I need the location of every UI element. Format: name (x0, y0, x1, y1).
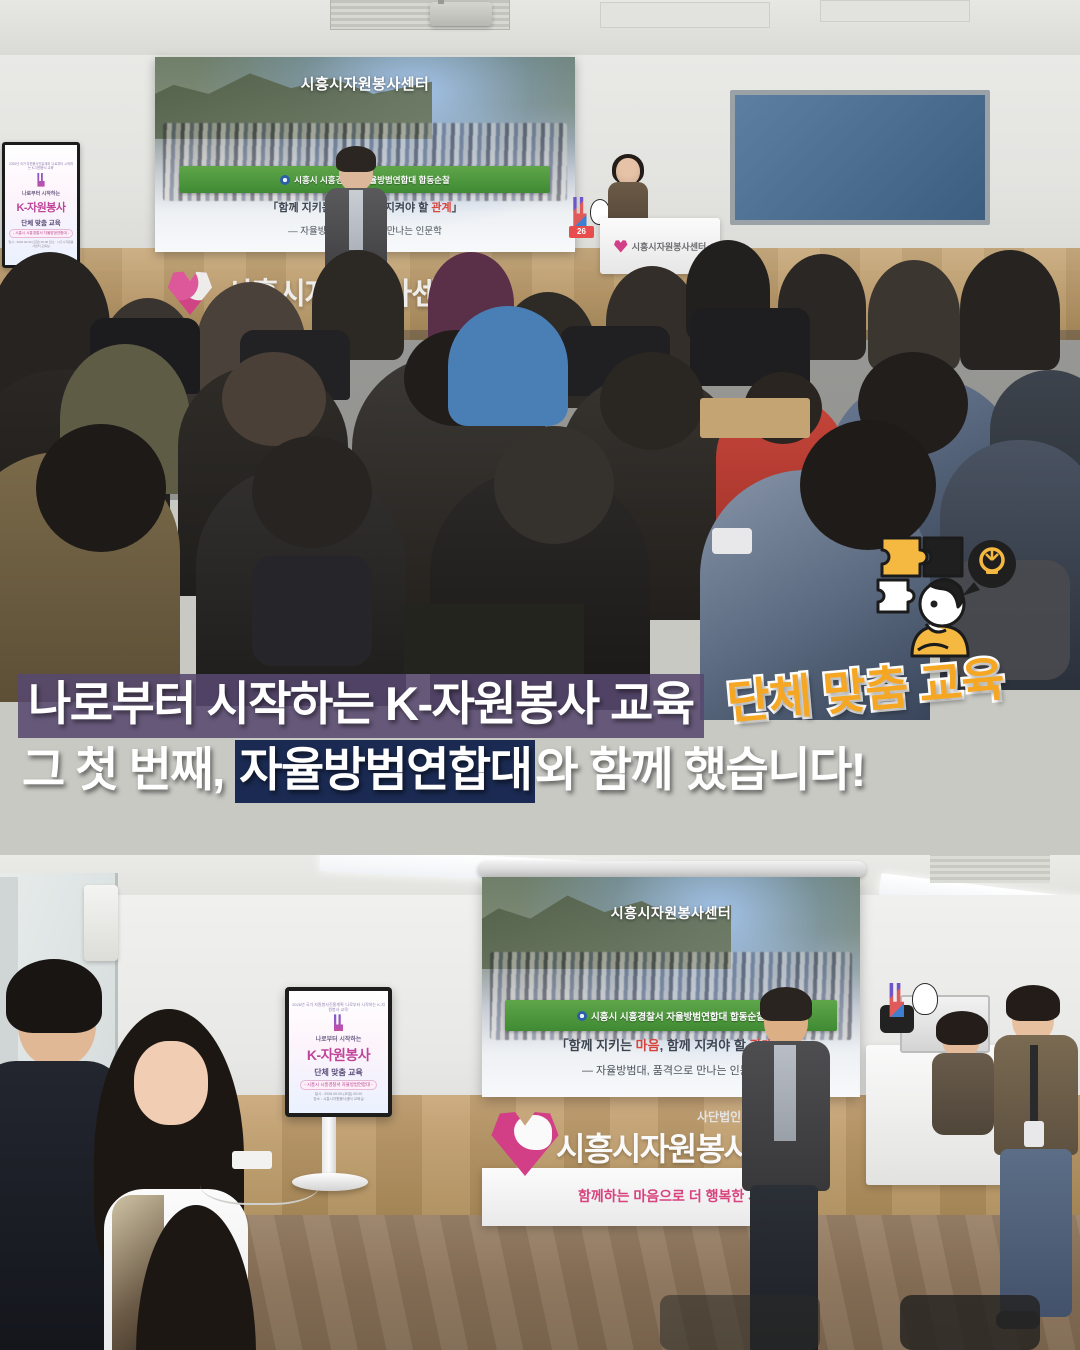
jeans (1000, 1149, 1072, 1317)
promo-card: 시흥시자원봉사센터 시흥시 시흥경찰서 자율방범연합대 합동순찰 「함께 지키는… (0, 0, 1080, 1350)
face (616, 158, 640, 185)
ceiling-light-panel (600, 2, 770, 28)
smartphone (712, 528, 752, 554)
slide-banner-text: 시흥시 시흥경찰서 자율방범연합대 합동순찰 (591, 1009, 765, 1023)
quote-hl-2: 관계 (431, 202, 451, 214)
screen-roller (478, 861, 866, 877)
hair (936, 1011, 988, 1045)
standing-monitor: 2026년 국가 자원봉사진흥계획 '나로부터 시작하는 K-자원봉사 교육' … (285, 987, 392, 1117)
top-photo: 시흥시자원봉사센터 시흥시 시흥경찰서 자율방범연합대 합동순찰 「함께 지키는… (0, 0, 1080, 855)
poster-content: 2026년 국가 자원봉사진흥계획 '나로부터 시작하는 K-자원봉사 교육' … (5, 145, 77, 265)
chair (900, 1295, 1040, 1350)
audience-head (36, 424, 166, 552)
sign-corp-label: 사단법인 (697, 1108, 741, 1125)
chair (660, 1295, 820, 1350)
window-panel (730, 90, 990, 225)
poster-main-title: K-자원봉사 (307, 1045, 370, 1065)
slide-title: 시흥시자원봉사센터 (155, 73, 575, 94)
police-seal-icon (577, 1011, 587, 1021)
prop-badge-label: 26 (569, 226, 594, 238)
poster-header: 2026년 국가 자원봉사진흥계획 '나로부터 시작하는 K-자원봉사 교육' (8, 162, 74, 171)
poster-footer: 일시 : 2026.00.00.(요일) 00:00 장소 : 시흥시자원봉사센… (313, 1092, 363, 1102)
poster-subtitle: 단체 맞춤 교육 (314, 1067, 363, 1078)
projector (430, 2, 492, 26)
wall-speaker (84, 885, 118, 961)
poster-pre: 나로부터 시작하는 (22, 190, 60, 197)
cable (200, 1155, 320, 1205)
torso (932, 1053, 994, 1135)
poster-header: 2026년 국가 자원봉사진흥계획 '나로부터 시작하는 K-자원봉사 교육' (292, 1002, 385, 1013)
chair (404, 604, 584, 674)
lanyard (1030, 1045, 1038, 1123)
podium-label: 시흥시자원봉사센터 (632, 240, 707, 253)
poster-org-pill: - 시흥시 시흥경찰서 자율방범연합대 - (300, 1080, 376, 1090)
bottom-photo: 시흥시자원봉사센터 시흥시 시흥경찰서 자율방범연합대 합동순찰 「함께 지키는… (0, 855, 1080, 1350)
audience-head (252, 436, 372, 548)
quote-pre: 「함께 지키는 (556, 1038, 636, 1053)
mascot-icon (912, 983, 938, 1015)
audience-head (600, 352, 704, 450)
ceiling-light-panel (820, 0, 970, 22)
desk (700, 398, 810, 438)
heart-logo-icon (490, 1108, 560, 1176)
air-vent (930, 855, 1050, 883)
presenter-bottom (740, 987, 830, 1317)
presenter-shirt (349, 190, 363, 250)
slide-title: 시흥시자원봉사센터 (482, 903, 860, 923)
poster-pre: 나로부터 시작하는 (316, 1034, 362, 1043)
poster-subtitle: 단체 맞춤 교육 (21, 217, 61, 227)
poster-footer: 일시 : 2026.00.00.(요일) 00:00 장소 : 시흥시자원봉사센… (8, 240, 74, 248)
heart-logo-icon (614, 240, 628, 253)
chair (950, 560, 1070, 680)
quote-mid: , 함께 지켜야 할 (660, 1038, 750, 1053)
presenter-hair (760, 987, 812, 1021)
presenter-hair (336, 146, 376, 172)
staff-member-seated (930, 1013, 994, 1133)
staff-member-right (990, 985, 1078, 1325)
center-floor-sign: 시흥시자원봉사센터 사단법인 함께하는 마음으로 더 행복한 시흥 (482, 1110, 782, 1225)
poster-org-pill: - 시흥시 시흥경찰서 자율방범연합대 - (9, 229, 73, 238)
left-monitor: 2026년 국가 자원봉사진흥계획 '나로부터 시작하는 K-자원봉사 교육' … (2, 142, 80, 268)
chair (252, 556, 372, 666)
id-badge (1024, 1121, 1044, 1147)
audience-head (222, 352, 326, 446)
audience-head (800, 420, 936, 550)
audience-member (960, 250, 1060, 370)
poster-main-title: K-자원봉사 (16, 199, 65, 215)
poster-content: 2026년 국가 자원봉사진흥계획 '나로부터 시작하는 K-자원봉사 교육' … (289, 991, 388, 1113)
k-volunteer-logo-icon (35, 173, 47, 187)
quote-hl-1: 마음 (636, 1038, 660, 1053)
presenter-shirt (774, 1045, 796, 1141)
police-seal-icon (280, 175, 290, 185)
k-volunteer-logo-icon (331, 1014, 346, 1031)
audience-member (448, 306, 568, 426)
face-front (134, 1041, 208, 1125)
hair (1006, 985, 1060, 1021)
k-volunteer-logo-icon (570, 197, 592, 227)
monitor-stand (322, 1117, 336, 1179)
quote-post: 」 (452, 202, 463, 214)
audience-head (494, 426, 614, 544)
